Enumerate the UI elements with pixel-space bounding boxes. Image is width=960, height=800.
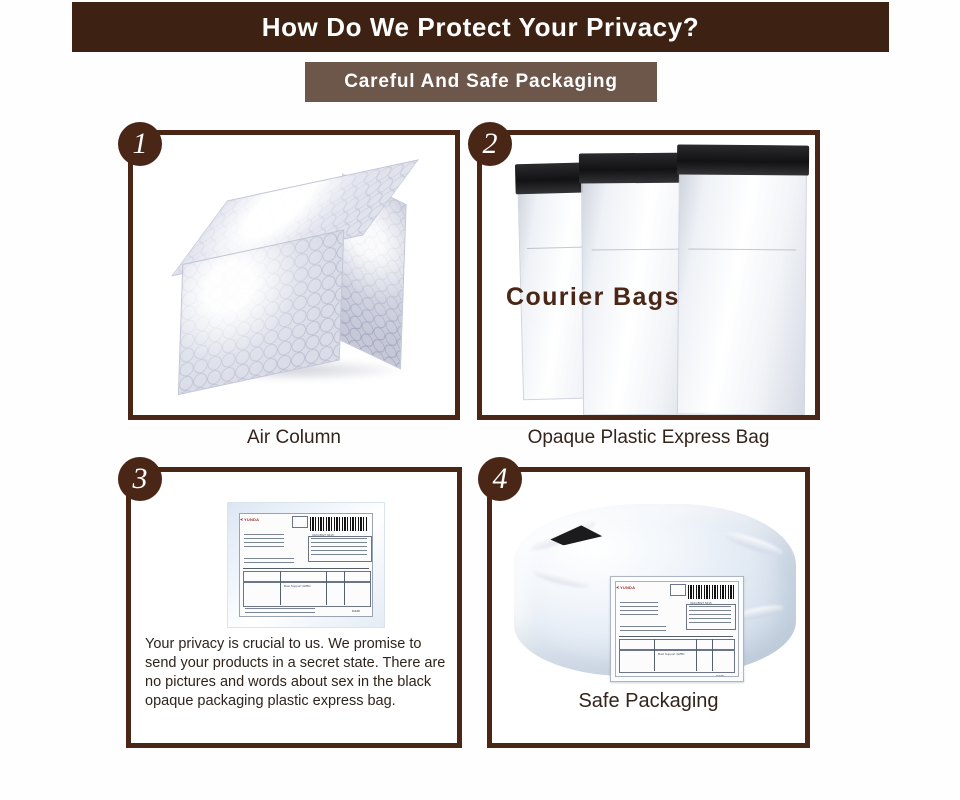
shipping-label-divider	[243, 568, 369, 569]
shipping-label-sender-lines	[620, 626, 666, 634]
shipping-label-divider	[619, 636, 733, 637]
shipping-label-dest-lines	[689, 606, 731, 626]
shipping-label-service-box	[292, 516, 308, 528]
panel-2-caption: Opaque Plastic Express Bag	[477, 427, 820, 449]
panel-4-frame: YUNDA 3104 8827 6615	[487, 467, 810, 748]
promo-graphic-page: How Do We Protect Your Privacy? Careful …	[0, 0, 960, 800]
panel-2-frame: Courier Bags	[477, 130, 820, 420]
parcel-crease	[532, 567, 591, 591]
shipping-label-barcode	[310, 517, 368, 531]
safe-packaging-image: YUNDA 3104 8827 6615	[492, 472, 805, 743]
panel-4-number-badge: 4	[478, 457, 522, 501]
panel-4-caption: Safe Packaging	[492, 690, 805, 713]
courier-bags-image: Courier Bags	[482, 135, 815, 415]
page-title: How Do We Protect Your Privacy?	[262, 12, 700, 43]
courier-bag-flap	[677, 144, 809, 175]
shipping-label-brand: YUNDA	[620, 585, 635, 590]
courier-bags-overlay-text: Courier Bags	[506, 283, 680, 312]
shipping-label-document: YUNDA 3104 8827 6615	[615, 581, 739, 677]
title-banner: How Do We Protect Your Privacy?	[72, 2, 889, 52]
shipping-label-footer-code: CA20	[352, 609, 360, 613]
shipping-label-item-row: Bust Support 32/BD	[658, 652, 685, 656]
shipping-label-origin-lines	[244, 534, 284, 550]
shipping-label-col-divider	[344, 571, 345, 605]
sealed-parcel: YUNDA 3104 8827 6615	[514, 504, 796, 676]
shipping-label-dest-lines	[311, 538, 367, 558]
parcel-crease	[722, 529, 784, 559]
privacy-paragraph: Your privacy is crucial to us. We promis…	[145, 635, 451, 711]
subtitle-banner: Careful And Safe Packaging	[305, 62, 657, 102]
courier-bag-body	[677, 144, 807, 415]
shipping-label-col-divider	[280, 571, 281, 605]
shipping-label-item-row: Bust Support 32/BD	[284, 584, 311, 588]
page-subtitle: Careful And Safe Packaging	[344, 71, 618, 93]
panel-3-frame: YUNDA 3104 8827 6615 Bust Support 32/BD …	[126, 467, 462, 748]
panel-3-number-badge: 3	[118, 457, 162, 501]
shipping-label-document: YUNDA 3104 8827 6615 Bust Support 32/BD …	[239, 513, 373, 617]
air-column-image	[133, 135, 455, 415]
shipping-label-photo: YUNDA 3104 8827 6615 Bust Support 32/BD …	[227, 502, 385, 628]
shipping-label-col-divider	[712, 639, 713, 671]
shipping-label-col-divider	[654, 639, 655, 671]
shipping-label-footer-code: CA20	[716, 674, 724, 677]
panel-2-number-badge: 2	[468, 122, 512, 166]
panel-1-caption: Air Column	[128, 427, 460, 449]
panel-1-number-badge: 1	[118, 122, 162, 166]
panel-1-frame	[128, 130, 460, 420]
shipping-label-origin-lines	[620, 602, 658, 618]
parcel-shipping-label: YUNDA 3104 8827 6615	[610, 576, 744, 682]
shipping-label-barcode	[688, 585, 734, 599]
shipping-label-sender-lines	[244, 558, 294, 566]
shipping-label-col-divider	[696, 639, 697, 671]
shipping-label-col-divider	[326, 571, 327, 605]
courier-bag-right	[677, 144, 807, 415]
shipping-label-brand: YUNDA	[244, 517, 259, 522]
shipping-label-footer-lines	[245, 608, 315, 614]
shipping-label-service-box	[670, 584, 686, 596]
